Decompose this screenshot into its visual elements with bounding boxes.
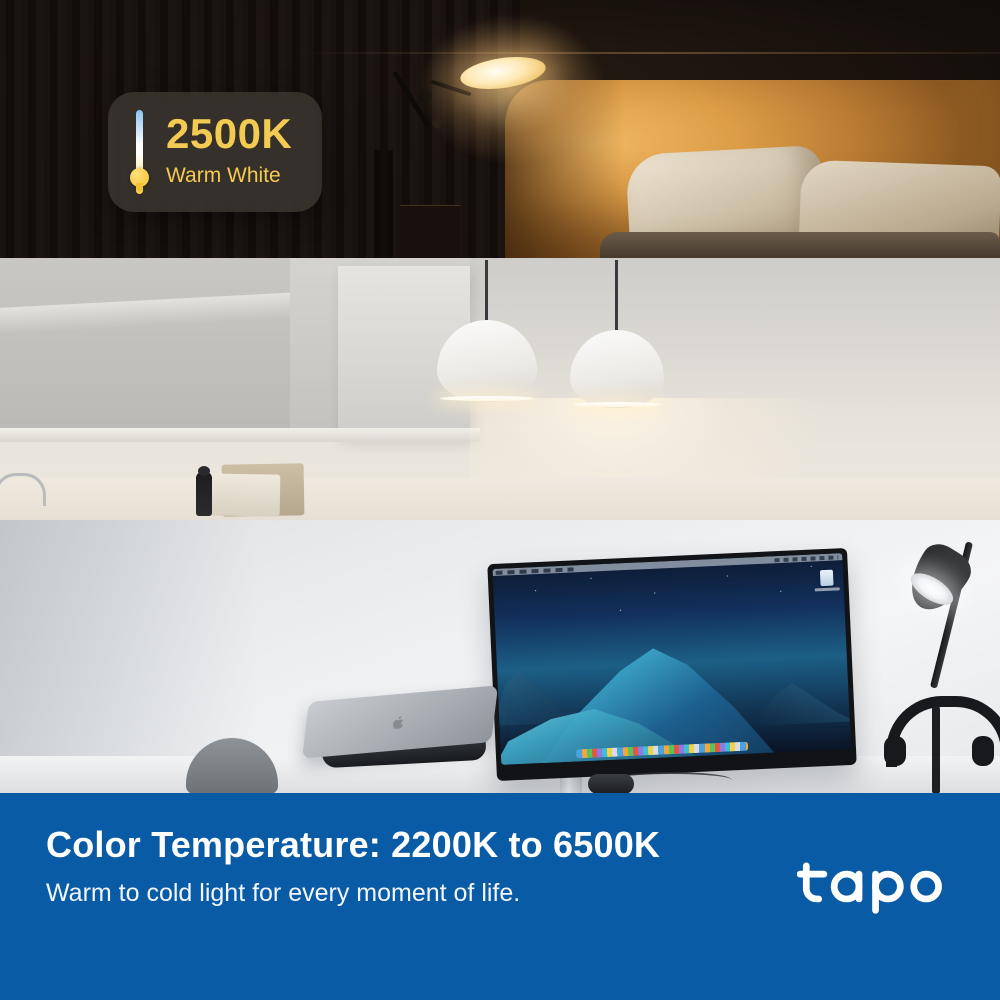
monitor-screen xyxy=(492,553,851,765)
temperature-slider-icon[interactable] xyxy=(130,110,148,194)
color-temperature-card-warm-white[interactable]: 2500K Warm White xyxy=(108,92,322,212)
pendant-cord xyxy=(485,260,488,322)
pepper-mill xyxy=(196,472,212,516)
pendant-light-rim xyxy=(573,402,661,407)
pendant-light-rim xyxy=(440,396,534,401)
cutting-board xyxy=(204,473,281,516)
pendant-cord xyxy=(615,260,618,332)
counter-edge xyxy=(0,428,480,442)
promo-image: 2500K Warm White xyxy=(0,0,1000,1000)
nightstand xyxy=(400,205,460,258)
card-text: 2500K Warm White xyxy=(166,113,292,191)
scene-panel-warm-white: 2500K Warm White xyxy=(0,0,1000,258)
tapo-logo xyxy=(797,855,952,915)
banner-subheadline: Warm to cold light for every moment of l… xyxy=(46,879,520,908)
lamp-stand-post xyxy=(374,150,380,258)
apple-logo-icon xyxy=(389,714,407,734)
lamp-joint xyxy=(418,88,432,102)
headphone-earcup xyxy=(884,736,906,766)
desktop-file-icon[interactable] xyxy=(820,570,834,587)
bottom-banner: Color Temperature: 2200K to 6500K Warm t… xyxy=(0,793,1000,1000)
wall-cabinet xyxy=(0,258,290,428)
pepper-mill-cap xyxy=(198,466,210,476)
menubar-status-icons[interactable] xyxy=(774,555,838,562)
backsplash xyxy=(0,478,1000,520)
kelvin-value: 2500K xyxy=(166,113,292,156)
lamp-stand-post xyxy=(388,150,393,258)
lamp-knob xyxy=(432,118,442,128)
duvet xyxy=(600,232,1000,258)
scene-panel-cool-white: 6500K Cool White xyxy=(0,520,1000,793)
scene-panel-daylight: 4000K Daylight xyxy=(0,258,1000,520)
headphone-earcup xyxy=(972,736,994,766)
slider-knob[interactable] xyxy=(130,168,149,187)
headphone-stand xyxy=(932,706,940,793)
computer-mouse xyxy=(588,774,634,793)
computer-monitor xyxy=(487,548,856,781)
banner-headline: Color Temperature: 2200K to 6500K xyxy=(46,824,660,866)
mode-label: Warm White xyxy=(166,160,292,192)
